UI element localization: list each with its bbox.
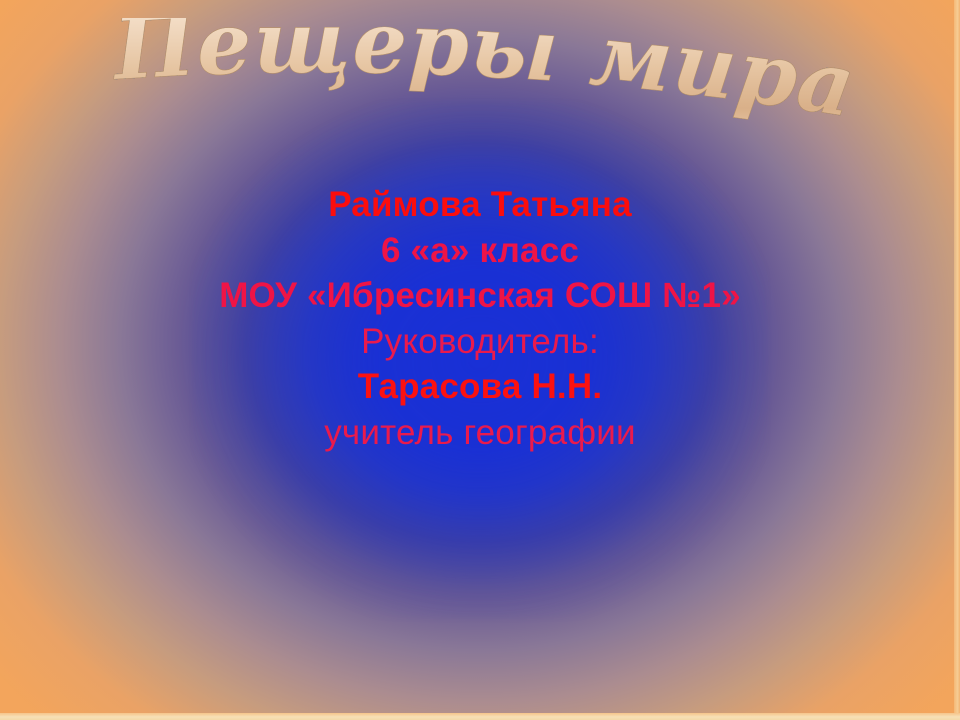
wordart-title-face: Пещеры мира (108, 18, 862, 138)
slide-trim-bottom (0, 713, 960, 720)
text-line-supervisor-name: Тарасова Н.Н. (0, 364, 960, 410)
presentation-slide: Пещеры мира Пещеры мира Пещеры мира Пеще… (0, 0, 960, 720)
wordart-title-graphic: Пещеры мира Пещеры мира Пещеры мира Пеще… (0, 18, 960, 158)
text-line-supervisor-label: Руководитель: (0, 319, 960, 365)
text-line-class: 6 «а» класс (0, 228, 960, 274)
text-line-school: МОУ «Ибресинская СОШ №1» (0, 273, 960, 319)
slide-body-text: Раймова Татьяна 6 «а» класс МОУ «Ибресин… (0, 182, 960, 455)
slide-title: Пещеры мира Пещеры мира Пещеры мира Пеще… (0, 18, 960, 158)
wordart-extrusion-layers: Пещеры мира Пещеры мира Пещеры мира Пеще… (108, 18, 862, 138)
text-line-author: Раймова Татьяна (0, 182, 960, 228)
text-line-supervisor-role: учитель географии (0, 410, 960, 456)
